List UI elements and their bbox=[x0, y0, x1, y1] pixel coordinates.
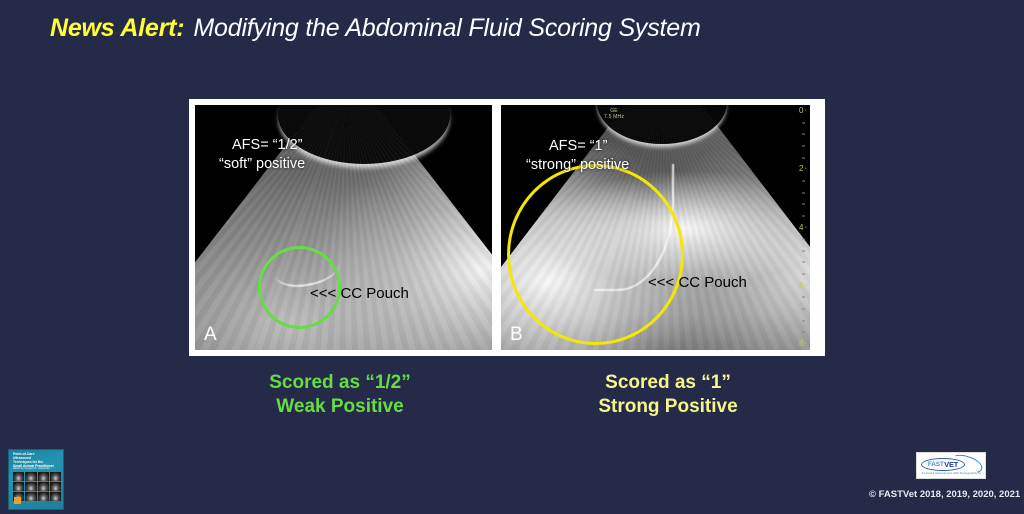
logo-vet-text: VET bbox=[944, 460, 958, 469]
depth-marker-minor bbox=[802, 239, 805, 240]
caption-left-line2: Weak Positive bbox=[240, 395, 440, 419]
machine-text-line2: 7.5 MHz bbox=[604, 114, 624, 120]
book-cover-cell bbox=[38, 482, 49, 491]
organ-crescent-a bbox=[278, 105, 450, 164]
depth-marker-major: 0 bbox=[799, 107, 807, 115]
depth-marker-minor bbox=[802, 134, 805, 135]
depth-marker-minor bbox=[802, 122, 805, 123]
caption-right-line2: Strong Positive bbox=[568, 395, 768, 419]
depth-marker-minor bbox=[802, 204, 805, 205]
panel-letter-b: B bbox=[510, 324, 523, 346]
book-cover-thumbnail[interactable]: Point-of-Care Ultrasound Techniques for … bbox=[8, 449, 64, 510]
panel-letter-a: A bbox=[204, 324, 217, 346]
depth-marker-minor bbox=[802, 250, 805, 251]
depth-marker-minor bbox=[802, 157, 805, 158]
book-cover-cell bbox=[25, 472, 36, 481]
machine-overlay-text: GE 7.5 MHz bbox=[604, 108, 624, 120]
caption-right: Scored as “1” Strong Positive bbox=[568, 371, 768, 419]
cc-pouch-label-b: <<< CC Pouch bbox=[648, 274, 747, 291]
depth-marker-major: 2 bbox=[799, 165, 807, 173]
ultrasound-panel-b: GE 7.5 MHz 02468 AFS= “1” “strong” posit… bbox=[501, 105, 810, 350]
caption-left-line1: Scored as “1/2” bbox=[240, 371, 440, 395]
qualifier-label-b: “strong” positive bbox=[526, 157, 629, 173]
slide-canvas: News Alert:Modifying the Abdominal Fluid… bbox=[0, 0, 1024, 514]
depth-marker-minor bbox=[802, 274, 805, 275]
book-cover-cell bbox=[50, 492, 61, 501]
depth-marker-minor bbox=[802, 262, 805, 263]
depth-marker-minor bbox=[802, 297, 805, 298]
copyright-text: © FASTVet 2018, 2019, 2020, 2021 bbox=[869, 489, 1019, 500]
book-publisher-badge bbox=[14, 497, 21, 504]
ultrasound-panel-a: AFS= “1/2” “soft” positive <<< CC Pouch … bbox=[195, 105, 492, 350]
book-cover-cell bbox=[38, 492, 49, 501]
fastvet-logo[interactable]: FASTVET Focused Assessment with Sonograp… bbox=[916, 452, 986, 479]
book-cover-cell bbox=[25, 482, 36, 491]
logo-oval-icon: FASTVET bbox=[921, 458, 965, 471]
depth-marker-major: 8 bbox=[799, 340, 807, 348]
qualifier-label-a: “soft” positive bbox=[219, 156, 305, 172]
caption-right-line1: Scored as “1” bbox=[568, 371, 768, 395]
depth-marker-minor bbox=[802, 180, 805, 181]
depth-marker-major: 6 bbox=[799, 282, 807, 290]
logo-tagline: Focused Assessment with Sonography for T… bbox=[922, 472, 981, 475]
afs-label-a: AFS= “1/2” bbox=[232, 137, 303, 153]
book-cover-cell bbox=[25, 492, 36, 501]
book-cover-cell bbox=[13, 482, 24, 491]
caption-left: Scored as “1/2” Weak Positive bbox=[240, 371, 440, 419]
depth-marker-minor bbox=[802, 320, 805, 321]
depth-marker-minor bbox=[802, 309, 805, 310]
title-main-text: Modifying the Abdominal Fluid Scoring Sy… bbox=[193, 14, 700, 42]
depth-marker-minor bbox=[802, 332, 805, 333]
book-cover-cell bbox=[50, 482, 61, 491]
depth-marker-minor bbox=[802, 192, 805, 193]
book-cover-cell bbox=[50, 472, 61, 481]
book-cover-cell bbox=[38, 472, 49, 481]
title-alert-prefix: News Alert: bbox=[50, 14, 184, 42]
book-editor: Edited by Gregory R. Lisciandro bbox=[13, 467, 59, 470]
logo-fast-text: FAST bbox=[928, 461, 944, 468]
highlight-circle-b bbox=[507, 164, 684, 345]
book-title: Point-of-Care Ultrasound Techniques for … bbox=[13, 452, 59, 468]
page-title: News Alert:Modifying the Abdominal Fluid… bbox=[50, 14, 701, 43]
book-cover-cell bbox=[13, 472, 24, 481]
afs-label-b: AFS= “1” bbox=[549, 138, 607, 154]
cc-pouch-label-a: <<< CC Pouch bbox=[310, 285, 409, 302]
depth-marker-minor bbox=[802, 145, 805, 146]
depth-marker-minor bbox=[802, 215, 805, 216]
depth-scale: 02468 bbox=[792, 111, 808, 344]
depth-marker-major: 4 bbox=[799, 224, 807, 232]
ultrasound-image-frame: AFS= “1/2” “soft” positive <<< CC Pouch … bbox=[189, 99, 825, 356]
